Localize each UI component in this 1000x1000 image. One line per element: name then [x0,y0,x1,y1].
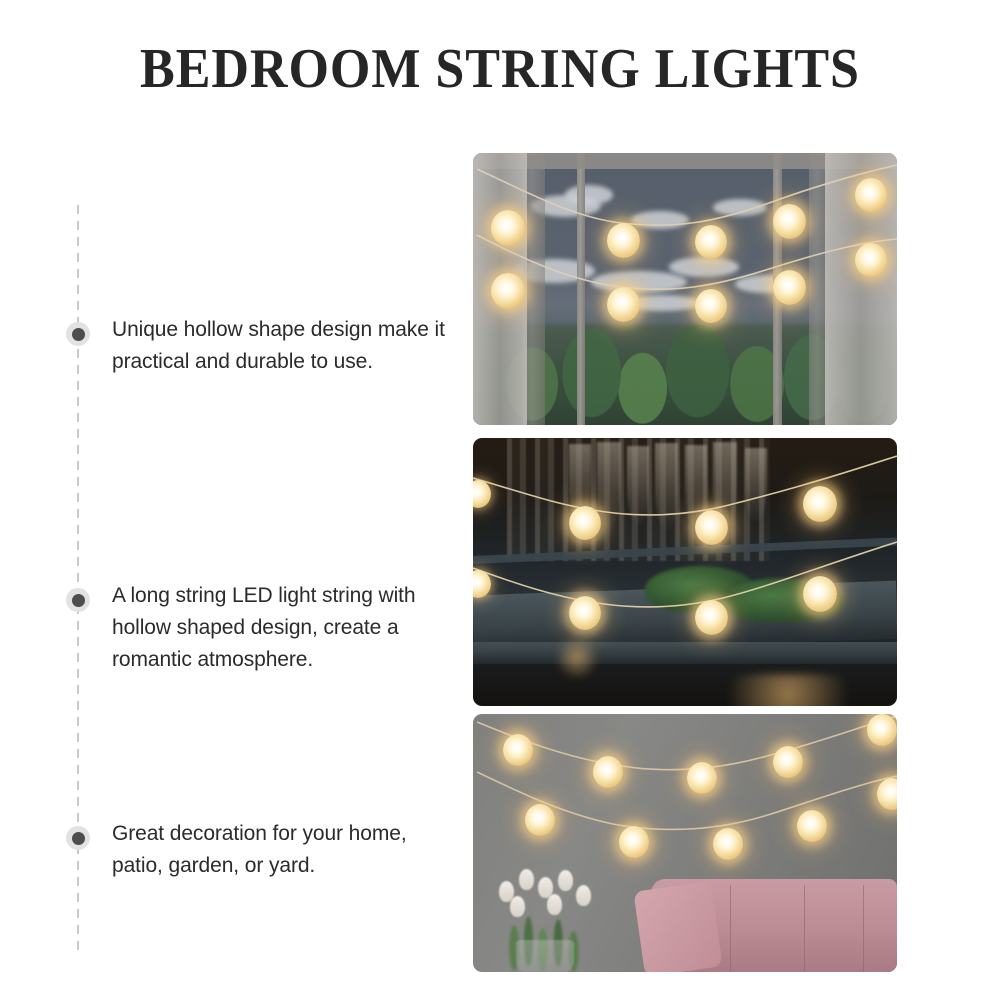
light-bulb [773,270,806,305]
product-photo-window [473,153,897,425]
light-bulb [855,243,887,277]
light-bulb [619,826,649,858]
light-bulb [797,810,827,842]
light-bulb [695,600,728,635]
light-strand-lower [473,153,897,425]
light-bulb [695,289,727,323]
light-bulb [569,596,601,630]
product-photo-bar [473,438,897,706]
light-strand-lower [473,438,897,706]
feature-text-2: A long string LED light string with holl… [112,580,460,676]
infographic-page: BEDROOM STRING LIGHTS Unique hollow shap… [0,0,1000,1000]
product-photo-room [473,714,897,972]
light-bulb [713,828,743,860]
feature-text-1: Unique hollow shape design make it pract… [112,314,460,378]
page-title: BEDROOM STRING LIGHTS [35,40,965,98]
timeline-dot-2 [66,588,90,612]
light-strand-lower [473,714,897,972]
light-bulb [607,287,640,322]
feature-text-3: Great decoration for your home, patio, g… [112,818,460,882]
light-bulb [803,576,837,612]
light-bulb [491,273,525,309]
timeline-dot-1 [66,322,90,346]
light-bulb [525,804,555,836]
timeline-dot-3 [66,826,90,850]
